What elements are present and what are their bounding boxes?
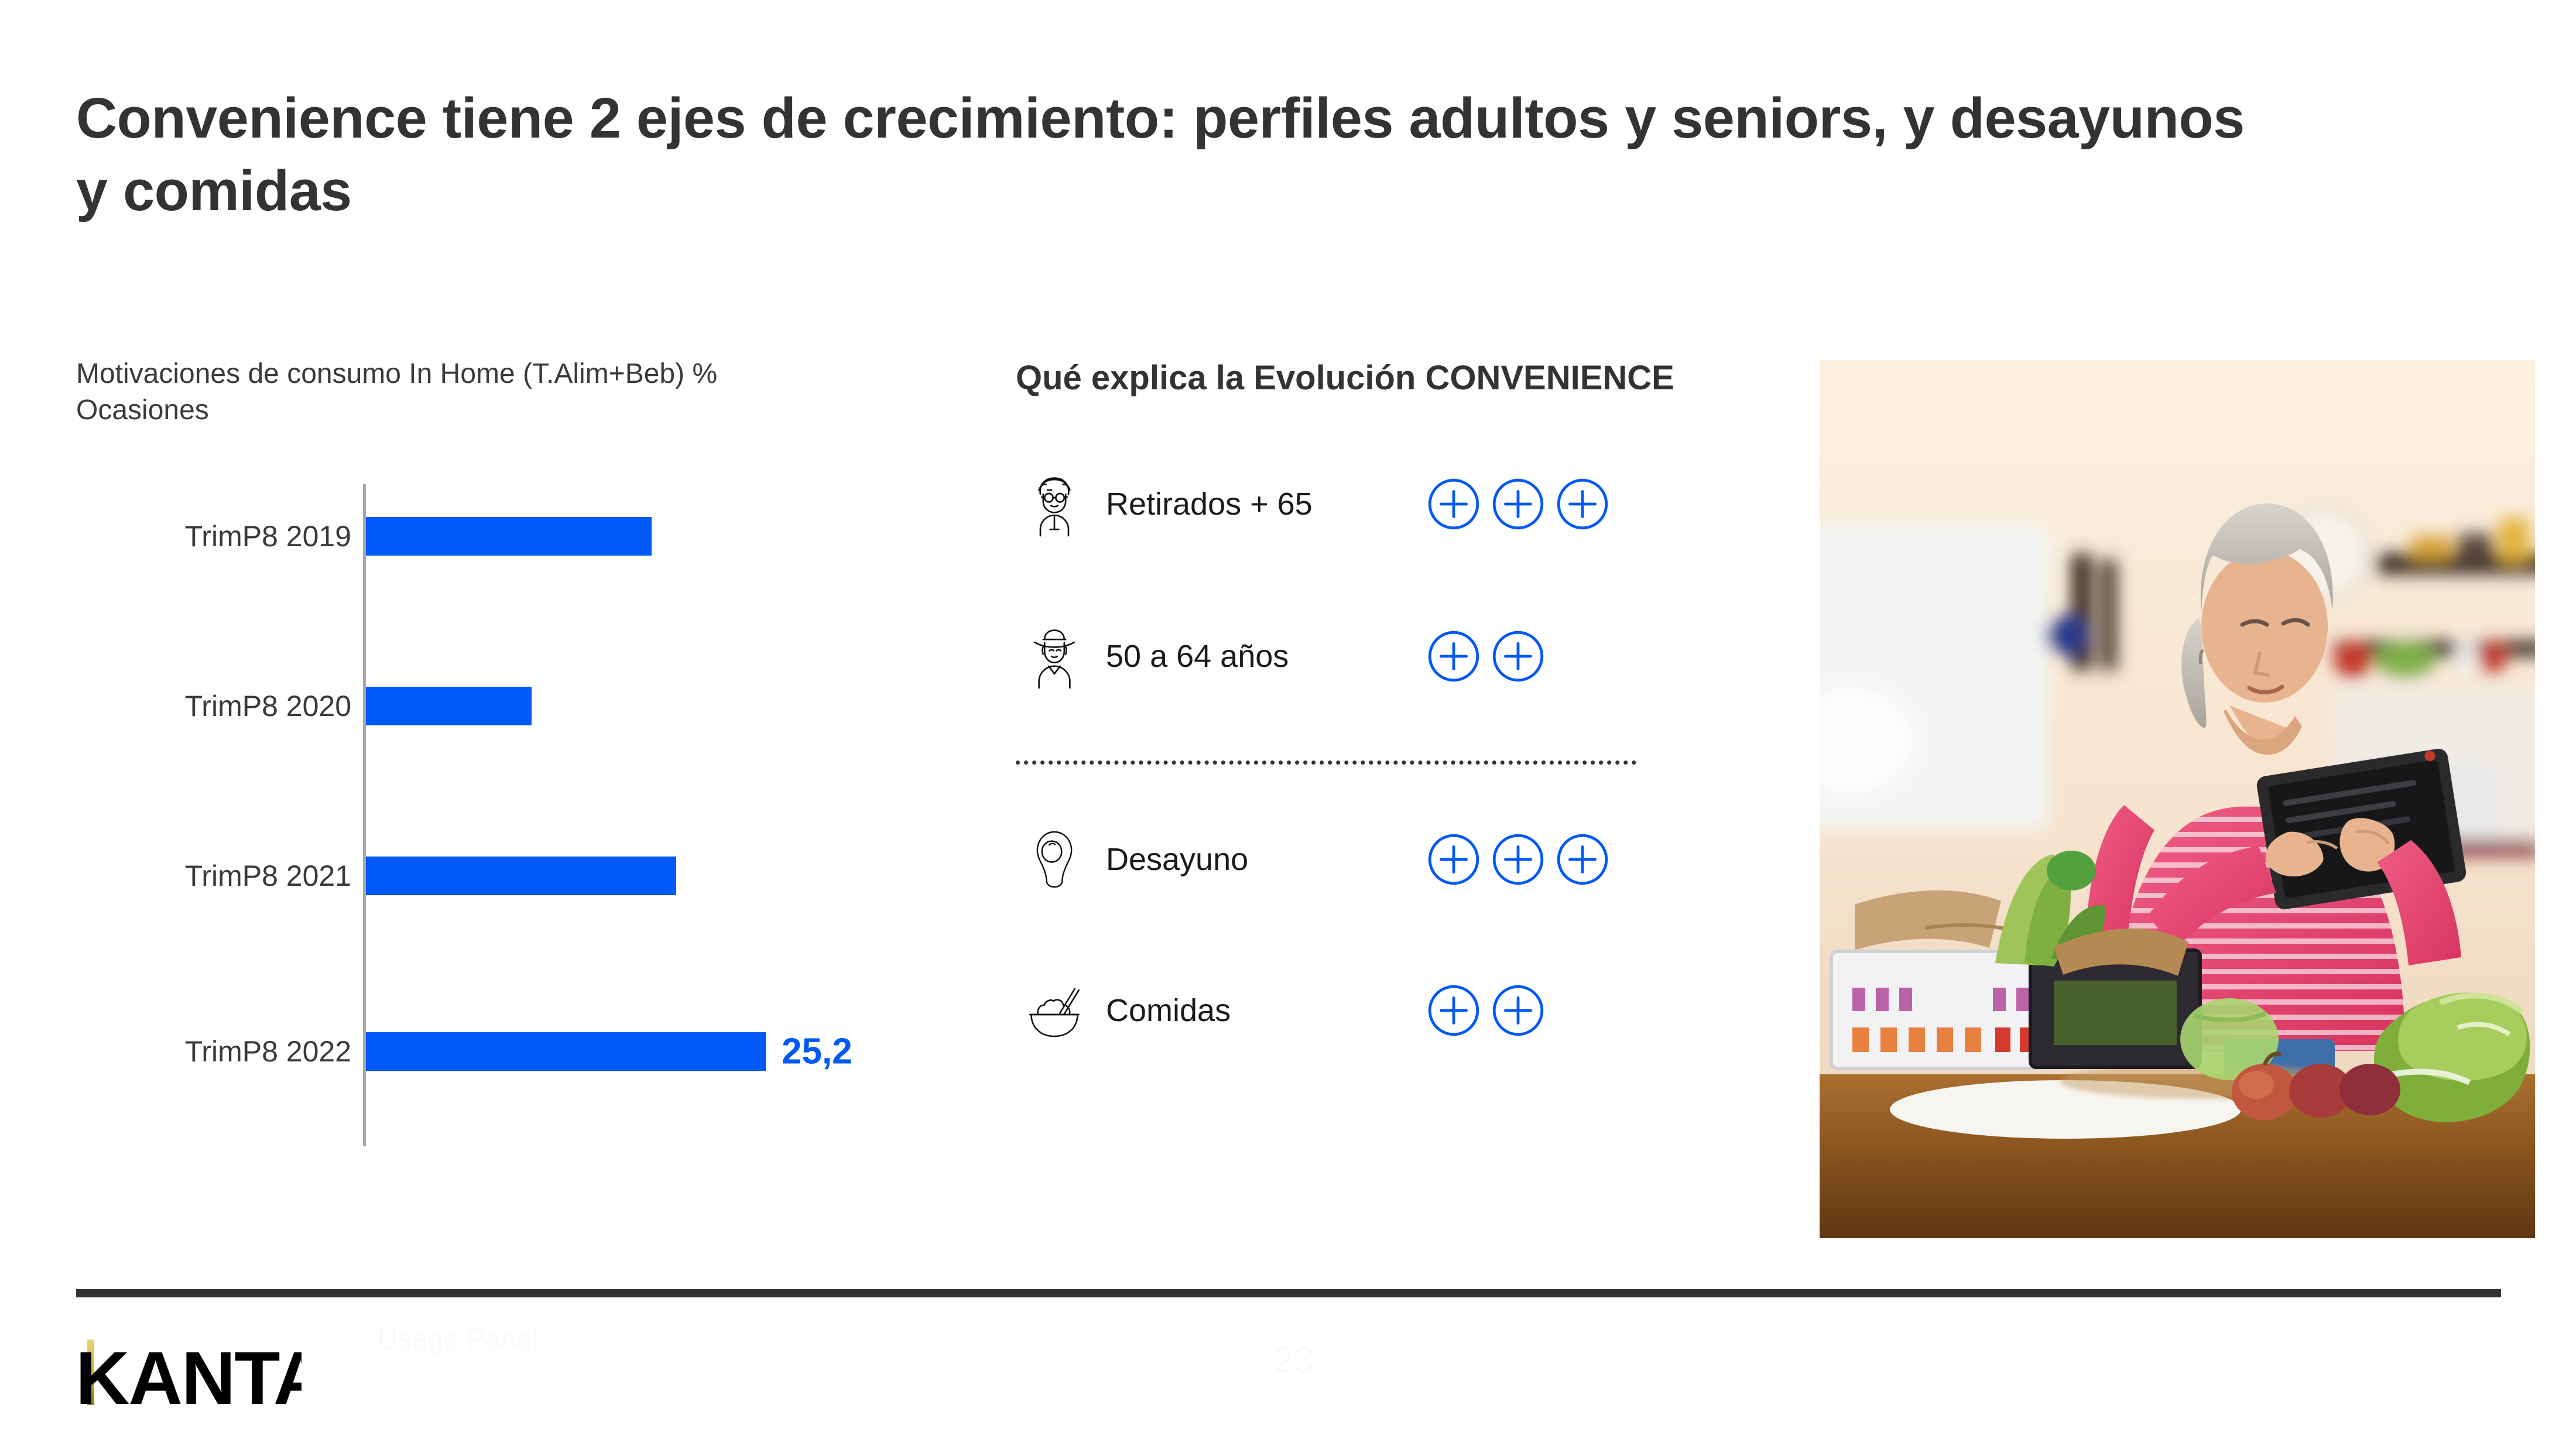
plus-circle-icon[interactable] — [1490, 982, 1546, 1039]
chart-bar-row: TrimP8 2019 — [76, 502, 907, 571]
bar-fill — [366, 517, 652, 556]
driver-row-comidas[interactable]: Comidas — [1016, 958, 1736, 1063]
plus-group — [1426, 476, 1611, 532]
driver-row-desayuno[interactable]: Desayuno — [1016, 807, 1736, 912]
plus-group — [1426, 982, 1546, 1039]
bar-fill — [366, 687, 532, 725]
section-divider — [1016, 761, 1636, 765]
plus-circle-icon[interactable] — [1490, 831, 1546, 888]
bar-category-label: TrimP8 2019 — [185, 519, 351, 553]
chart-block: Motivaciones de consumo In Home (T.Alim+… — [76, 356, 919, 1146]
chart-title: Motivaciones de consumo In Home (T.Alim+… — [76, 356, 855, 429]
plus-group — [1426, 628, 1546, 684]
bar-category-label: TrimP8 2021 — [185, 859, 351, 893]
bar-fill — [366, 857, 676, 895]
source-note: Usage Panel — [378, 1323, 539, 1355]
driver-row-50-64[interactable]: 50 a 64 años — [1016, 604, 1736, 709]
page-number: 23 — [1273, 1340, 1314, 1381]
chart-bar-row: TrimP8 2020 — [76, 672, 907, 741]
plus-circle-icon[interactable] — [1490, 476, 1546, 532]
drivers-heading: Qué explica la Evolución CONVENIENCE — [1016, 356, 1736, 400]
adult-person-hat-icon — [1016, 621, 1093, 691]
plus-circle-icon[interactable] — [1554, 831, 1611, 888]
senior-person-icon — [1016, 469, 1093, 539]
bar-fill — [366, 1032, 766, 1071]
fried-egg-icon — [1016, 827, 1093, 892]
driver-label: Desayuno — [1106, 841, 1248, 878]
plus-circle-icon[interactable] — [1426, 476, 1482, 532]
plus-group — [1426, 831, 1611, 888]
footer-divider — [76, 1289, 2501, 1297]
plus-circle-icon[interactable] — [1426, 982, 1482, 1039]
bar-category-label: TrimP8 2022 — [185, 1034, 351, 1068]
plus-circle-icon[interactable] — [1426, 628, 1482, 684]
slide-canvas: Convenience tiene 2 ejes de crecimiento:… — [0, 0, 2576, 1449]
plus-circle-icon[interactable] — [1426, 831, 1482, 888]
driver-row-retirados[interactable]: Retirados + 65 — [1016, 451, 1736, 557]
svg-text:KANTAR: KANTAR — [76, 1337, 302, 1416]
bar-chart: TrimP8 2019 TrimP8 2020 TrimP8 2021 Trim… — [76, 484, 907, 1146]
chart-bar-row: TrimP8 2021 — [76, 841, 907, 910]
bar-value-label: 25,2 — [782, 1030, 852, 1072]
senior-woman-with-tablet-in-kitchen-photo — [1820, 360, 2535, 1238]
page-title: Convenience tiene 2 ejes de crecimiento:… — [76, 82, 2254, 227]
rice-bowl-icon — [1016, 977, 1093, 1044]
driver-label: Retirados + 65 — [1106, 486, 1313, 522]
drivers-block: Qué explica la Evolución CONVENIENCE — [1016, 356, 1736, 1063]
drivers-list: Retirados + 65 — [1016, 451, 1736, 1063]
plus-circle-icon[interactable] — [1554, 476, 1611, 532]
kantar-logo: KANTAR — [73, 1328, 302, 1416]
driver-label: 50 a 64 años — [1106, 638, 1289, 674]
chart-bar-row: TrimP8 2022 25,2 — [76, 1017, 907, 1086]
plus-circle-icon[interactable] — [1490, 628, 1546, 684]
bar-category-label: TrimP8 2020 — [185, 689, 351, 723]
driver-label: Comidas — [1106, 992, 1231, 1029]
